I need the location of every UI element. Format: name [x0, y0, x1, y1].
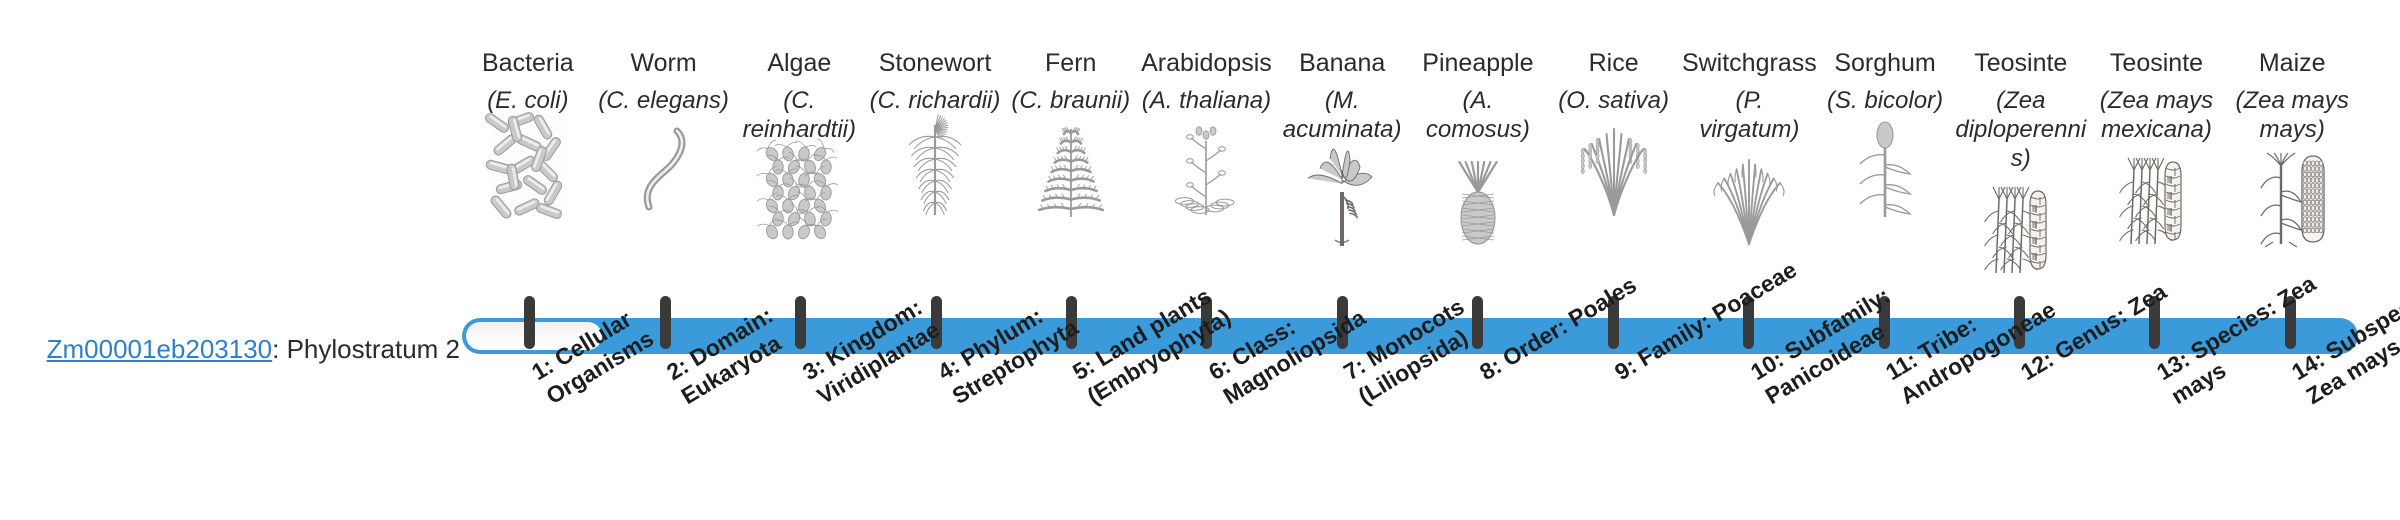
rice-plant-icon: [1548, 121, 1680, 219]
species-scientific-name: (S. bicolor): [1827, 86, 1943, 115]
species-column: Worm(C. elegans): [596, 48, 732, 219]
species-common-name: Rice: [1589, 48, 1639, 78]
species-scientific-name: (O. sativa): [1558, 86, 1669, 115]
species-common-name: Switchgrass: [1682, 48, 1817, 78]
species-scientific-name: (A. thaliana): [1142, 86, 1271, 115]
gene-id-link[interactable]: Zm00001eb203130: [47, 334, 273, 364]
species-column: Rice(O. sativa): [1546, 48, 1682, 219]
species-scientific-name: (E. coli): [487, 86, 568, 115]
species-column: Stonewort(C. richardii): [867, 48, 1003, 219]
species-common-name: Teosinte: [1974, 48, 2067, 78]
species-row: Bacteria(E. coli)Worm(C. elegans)Algae(C…: [460, 48, 2360, 310]
stonewort-plant-icon: [869, 121, 1001, 219]
species-common-name: Banana: [1299, 48, 1385, 78]
species-scientific-name: (Zea mays mexicana): [2091, 86, 2223, 144]
species-scientific-name: (C. elegans): [598, 86, 729, 115]
species-column: Teosinte(Zea diploperennis): [1953, 48, 2089, 277]
maize-plant-ear-icon: [2226, 150, 2358, 248]
chlamydomonas-cells-icon: [733, 150, 865, 248]
species-common-name: Pineapple: [1422, 48, 1533, 78]
teosinte-plant-ear-icon: [2091, 150, 2223, 248]
species-common-name: Teosinte: [2110, 48, 2203, 78]
species-common-name: Maize: [2259, 48, 2326, 78]
species-common-name: Fern: [1045, 48, 1096, 78]
phylostratum-figure: Zm00001eb203130: Phylostratum 2 Bacteria…: [0, 0, 2400, 520]
species-common-name: Stonewort: [879, 48, 992, 78]
species-common-name: Worm: [630, 48, 696, 78]
species-column: Switchgrass(P. virgatum): [1681, 48, 1817, 248]
species-scientific-name: (M. acuminata): [1276, 86, 1408, 144]
phylostratum-value-text: Phylostratum 2: [287, 334, 460, 364]
nematode-worm-icon: [598, 121, 730, 219]
species-column: Arabidopsis(A. thaliana): [1139, 48, 1275, 219]
species-column: Teosinte(Zea mays mexicana): [2089, 48, 2225, 248]
species-scientific-name: (C. braunii): [1011, 86, 1130, 115]
species-scientific-name: (C. reinhardtii): [733, 86, 865, 144]
phylostratum-tick[interactable]: [524, 296, 535, 349]
species-scientific-name: (A. comosus): [1412, 86, 1544, 144]
pineapple-icon: [1412, 150, 1544, 248]
species-common-name: Algae: [767, 48, 831, 78]
species-scientific-name: (C. richardii): [870, 86, 1001, 115]
species-scientific-name: (Zea diploperennis): [1955, 86, 2087, 173]
fern-frond-icon: [1005, 121, 1137, 219]
gene-phylostratum-label: Zm00001eb203130: Phylostratum 2: [40, 334, 460, 364]
species-column: Bacteria(E. coli): [460, 48, 596, 219]
species-column: Maize(Zea mays mays): [2224, 48, 2360, 248]
species-common-name: Bacteria: [482, 48, 574, 78]
bacteria-rods-icon: [462, 121, 594, 219]
species-scientific-name: (Zea mays mays): [2226, 86, 2358, 144]
species-column: Sorghum(S. bicolor): [1817, 48, 1953, 219]
teosinte-plant-ear-icon: [1955, 179, 2087, 277]
species-common-name: Arabidopsis: [1141, 48, 1272, 78]
species-column: Banana(M. acuminata): [1274, 48, 1410, 248]
species-column: Algae(C. reinhardtii): [731, 48, 867, 248]
banana-plant-icon: [1276, 150, 1408, 248]
species-column: Pineapple(A. comosus): [1410, 48, 1546, 248]
rank-number: 8:: [1475, 352, 1506, 385]
switchgrass-icon: [1683, 150, 1815, 248]
rank-number: 9:: [1610, 352, 1641, 385]
taxonomic-rank-labels: 1: Cellular Organisms2: Domain: Eukaryot…: [462, 360, 2358, 520]
sorghum-plant-icon: [1819, 121, 1951, 219]
species-common-name: Sorghum: [1834, 48, 1935, 78]
arabidopsis-rosette-icon: [1141, 121, 1273, 219]
gene-label-separator: :: [272, 334, 286, 364]
species-scientific-name: (P. virgatum): [1683, 86, 1815, 144]
species-column: Fern(C. braunii): [1003, 48, 1139, 219]
